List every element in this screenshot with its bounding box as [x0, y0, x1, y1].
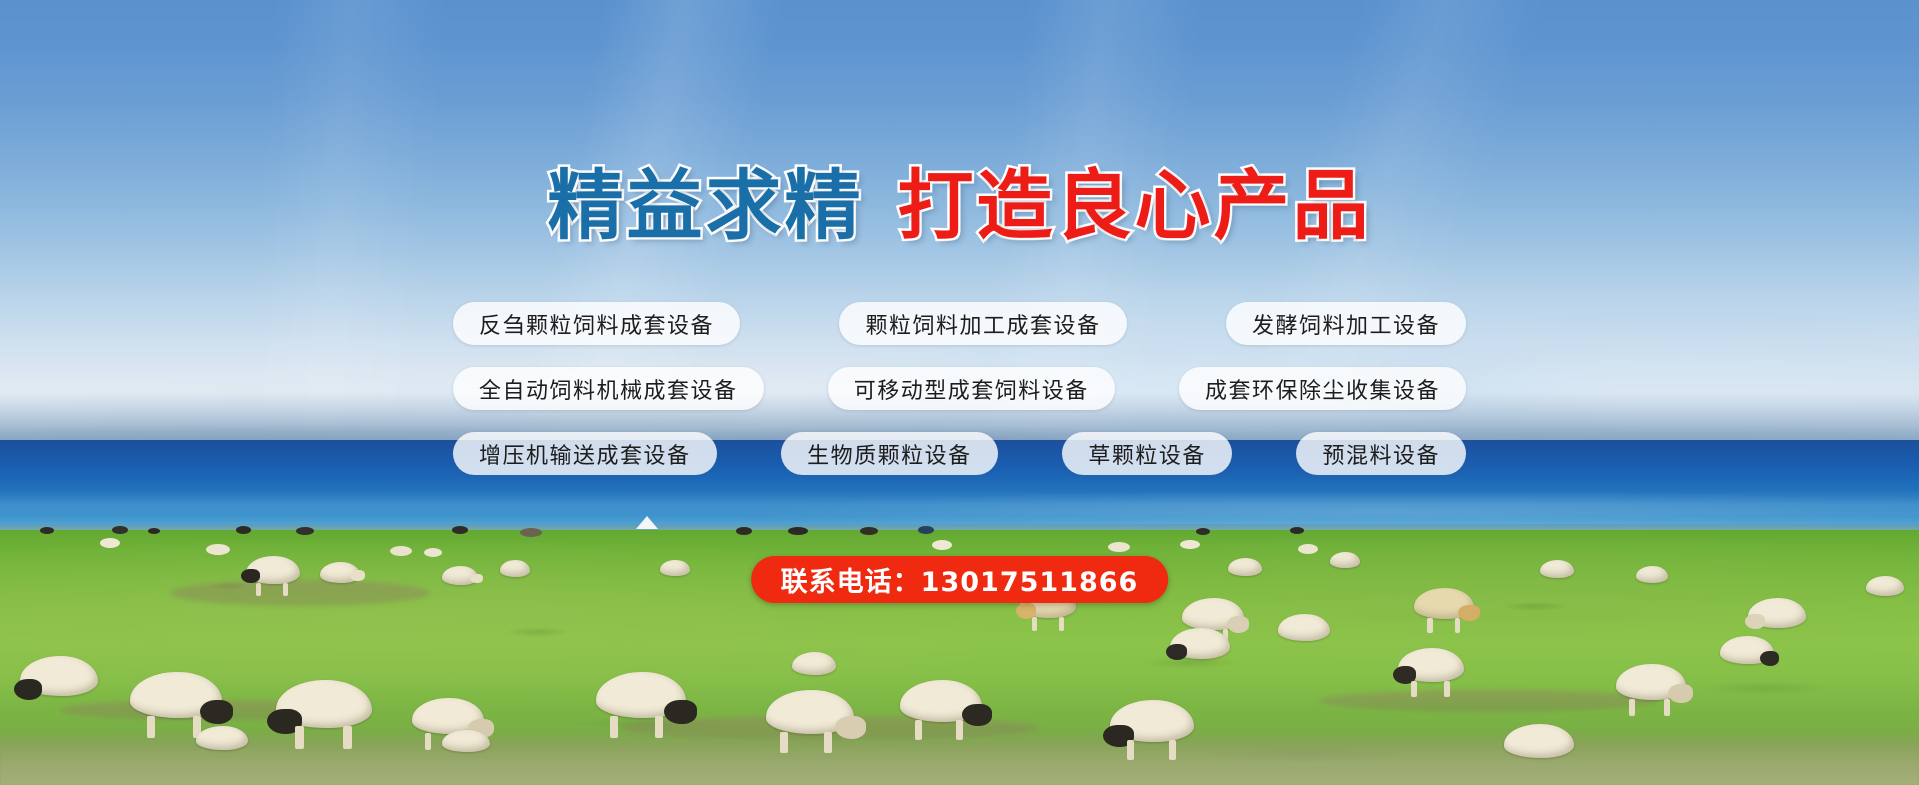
sheep-leg: [956, 720, 963, 740]
distant-animal: [932, 540, 952, 550]
sheep-head: [1760, 651, 1779, 666]
sheep-leg: [610, 716, 618, 738]
sheep-leg: [1455, 618, 1460, 633]
sheep: [1278, 614, 1330, 641]
sheep-leg: [655, 716, 663, 738]
sheep-leg: [147, 716, 155, 738]
product-tag-pellet-feed-processing-complete-equipment[interactable]: 颗粒饲料加工成套设备: [839, 302, 1126, 345]
distant-animal: [860, 527, 878, 535]
sheep: [766, 690, 854, 734]
sheep: [276, 680, 372, 728]
sheep-head: [962, 704, 992, 726]
sheep: [1540, 560, 1574, 578]
sheep-leg: [295, 726, 304, 749]
distant-animal: [148, 528, 160, 534]
product-tag-fermented-feed-processing-equipment[interactable]: 发酵饲料加工设备: [1226, 302, 1466, 345]
distant-animal: [296, 527, 314, 535]
sheep-head: [1166, 644, 1188, 660]
sheep-head: [470, 574, 483, 584]
sheep-leg: [1059, 617, 1064, 631]
sheep: [1616, 664, 1686, 700]
sheep-leg: [1032, 617, 1037, 631]
distant-animal: [424, 548, 442, 557]
distant-animal: [112, 526, 128, 534]
sheep: [500, 560, 530, 577]
distant-animal: [736, 527, 752, 535]
sheep-leg: [1664, 699, 1670, 716]
sheep: [1330, 552, 1360, 568]
distant-animal: [1290, 527, 1304, 534]
product-tag-ruminant-pellet-feed-complete-equipment[interactable]: 反刍颗粒饲料成套设备: [453, 302, 740, 345]
sheep: [130, 672, 222, 718]
headline-gap: [864, 168, 898, 244]
sheep: [412, 698, 484, 734]
distant-animal: [40, 527, 54, 534]
product-tag-row-2: 全自动饲料机械成套设备 可移动型成套饲料设备 成套环保除尘收集设备: [453, 367, 1466, 410]
sheep-leg: [1427, 618, 1432, 633]
banner-headline: 精益求精 打造良心产品: [0, 168, 1919, 244]
sheep: [196, 726, 248, 750]
sheep-leg: [1127, 740, 1135, 760]
product-tag-fully-automatic-feed-machinery-complete-equipment[interactable]: 全自动饲料机械成套设备: [453, 367, 764, 410]
sheep-head: [350, 570, 364, 581]
contact-phone-button[interactable]: 联系电话：13017511866: [751, 556, 1169, 603]
distant-animal: [1196, 528, 1210, 535]
headline-part-blue: 精益求精: [548, 168, 864, 244]
sheep: [1228, 558, 1262, 576]
sheep-head: [1227, 616, 1249, 633]
distant-animal: [788, 527, 808, 535]
sheep: [1398, 648, 1464, 682]
sheep-leg: [1169, 740, 1177, 760]
distant-animal: [206, 544, 230, 555]
product-tag-complete-environmental-dust-collection-equipment[interactable]: 成套环保除尘收集设备: [1179, 367, 1466, 410]
sheep: [246, 556, 300, 584]
sheep-head: [1458, 605, 1480, 621]
distant-animal: [100, 538, 120, 548]
distant-animal: [520, 528, 542, 537]
product-tag-booster-conveying-complete-equipment[interactable]: 增压机输送成套设备: [453, 432, 717, 475]
sheep-leg: [425, 733, 431, 750]
product-tag-biomass-pellet-equipment[interactable]: 生物质颗粒设备: [781, 432, 998, 475]
sheep-leg: [1444, 681, 1450, 697]
distant-animal: [390, 546, 412, 556]
sheep-head: [14, 679, 42, 700]
distant-animal: [1298, 544, 1318, 554]
sheep-head: [200, 700, 233, 724]
sheep: [442, 566, 478, 585]
sheep: [660, 560, 690, 576]
sheep: [442, 730, 490, 752]
product-tag-premix-equipment[interactable]: 预混料设备: [1296, 432, 1466, 475]
sheep: [1170, 628, 1230, 659]
sheep-leg: [343, 726, 352, 749]
distant-animal: [1108, 542, 1130, 552]
sheep-head: [664, 700, 696, 724]
sheep: [1504, 724, 1574, 758]
distant-animal: [918, 526, 934, 534]
sheep-leg: [1629, 699, 1635, 716]
sheep: [1720, 636, 1774, 664]
sheep-leg: [780, 732, 788, 753]
promo-banner: 精益求精 打造良心产品 反刍颗粒饲料成套设备 颗粒饲料加工成套设备 发酵饲料加工…: [0, 0, 1919, 785]
sheep: [792, 652, 836, 675]
product-tag-row-1: 反刍颗粒饲料成套设备 颗粒饲料加工成套设备 发酵饲料加工设备: [453, 302, 1466, 345]
sheep-head: [835, 716, 867, 739]
dirt-patch: [1320, 690, 1660, 712]
headline-part-red: 打造良心产品: [898, 168, 1372, 244]
sheep: [1866, 576, 1904, 596]
sheep-leg: [915, 720, 922, 740]
distant-animal: [236, 526, 251, 534]
sheep: [1110, 700, 1194, 742]
sheep: [1182, 598, 1244, 630]
sheep: [320, 562, 360, 583]
product-tag-grass-pellet-equipment[interactable]: 草颗粒设备: [1062, 432, 1232, 475]
yurt-tent: [636, 516, 658, 529]
product-tag-row-3: 增压机输送成套设备 生物质颗粒设备 草颗粒设备 预混料设备: [453, 432, 1466, 475]
sheep-head: [241, 569, 260, 584]
product-tag-list: 反刍颗粒饲料成套设备 颗粒饲料加工成套设备 发酵饲料加工设备 全自动饲料机械成套…: [453, 302, 1466, 497]
dirt-patch: [170, 580, 430, 606]
sheep: [900, 680, 982, 722]
sheep-head: [1745, 614, 1766, 630]
sheep-leg: [1411, 681, 1417, 697]
distant-animal: [452, 526, 468, 534]
sheep: [20, 656, 98, 696]
sheep: [1414, 588, 1474, 619]
sheep-leg: [256, 583, 261, 596]
distant-animal: [1180, 540, 1200, 549]
sheep-head: [1668, 684, 1693, 703]
sheep-leg: [824, 732, 832, 753]
sheep: [1748, 598, 1806, 628]
sheep: [1636, 566, 1668, 583]
sheep-leg: [283, 583, 288, 596]
product-tag-mobile-complete-feed-equipment[interactable]: 可移动型成套饲料设备: [828, 367, 1115, 410]
sheep: [596, 672, 686, 718]
